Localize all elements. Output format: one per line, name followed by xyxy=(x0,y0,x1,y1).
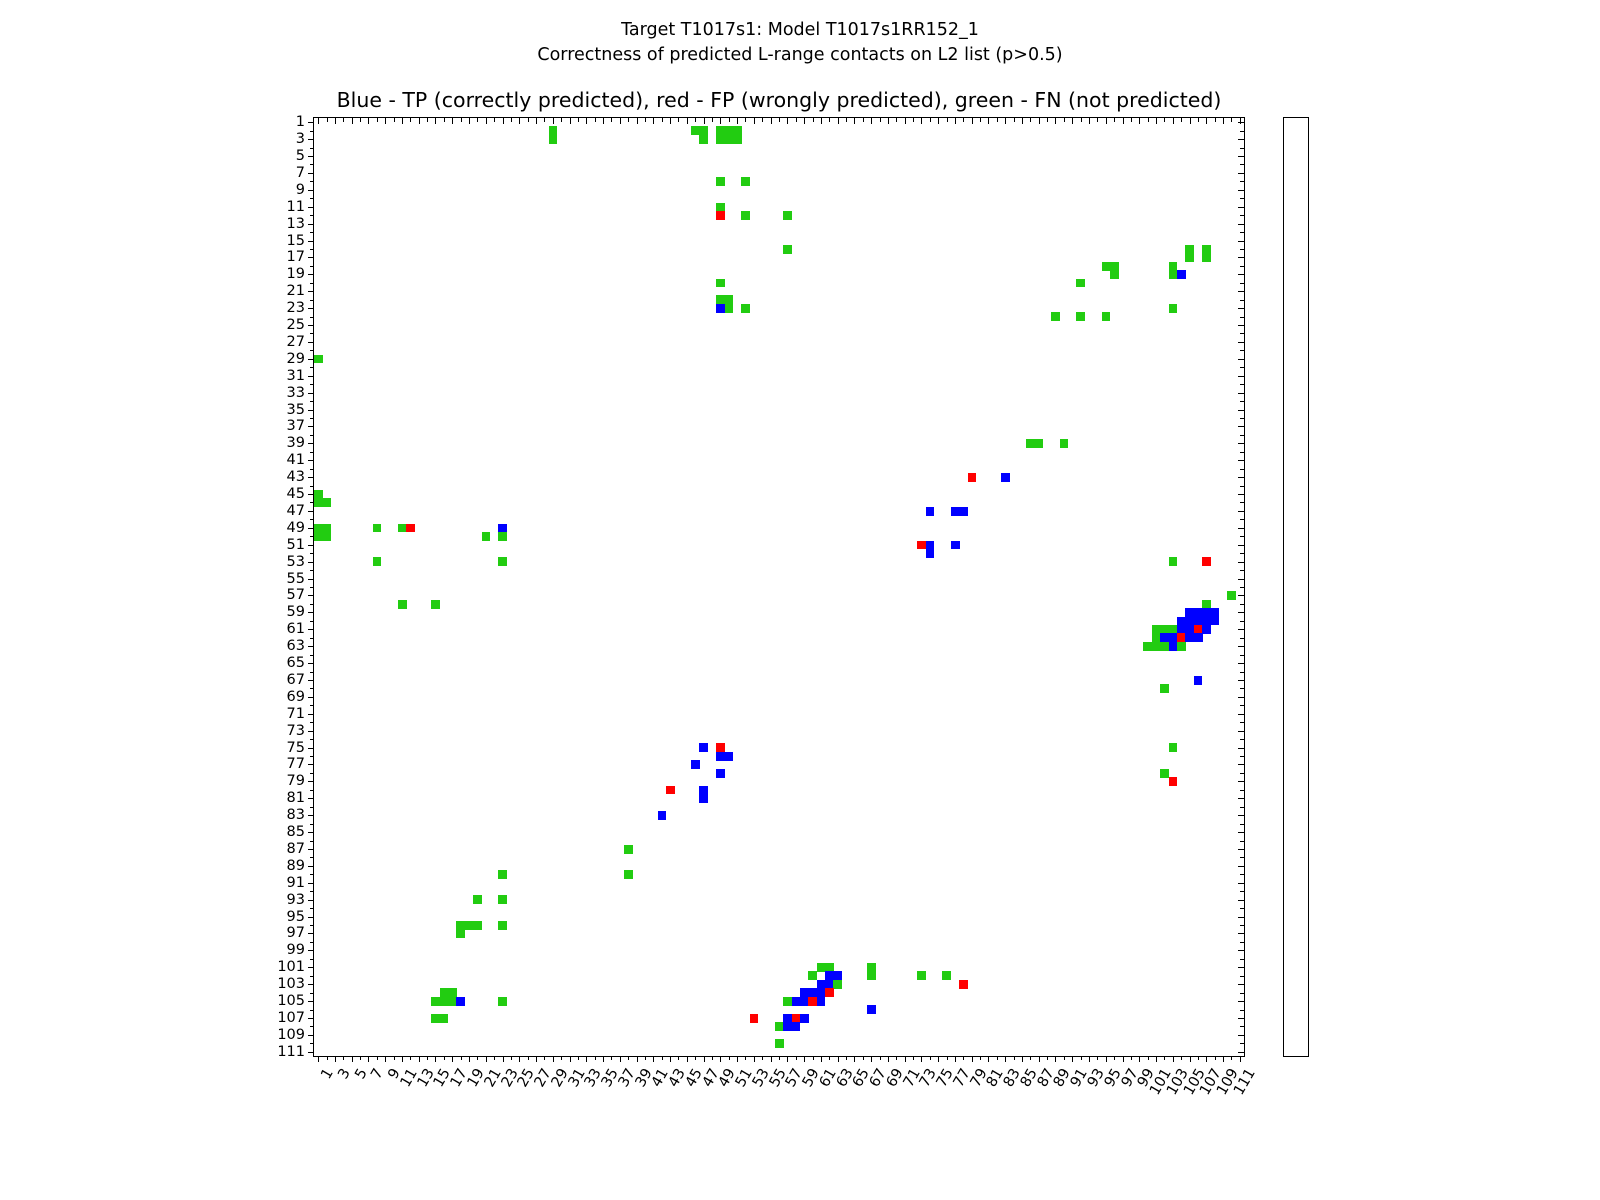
contact-cell xyxy=(1202,245,1211,262)
x-axis-tick-top xyxy=(1231,118,1232,122)
contact-cell xyxy=(1202,625,1211,634)
x-axis-tick-top xyxy=(1173,118,1174,124)
contact-cell xyxy=(716,769,725,778)
y-axis-tick-right xyxy=(1238,1052,1244,1053)
y-axis-tick xyxy=(308,426,314,427)
y-axis-tick-right xyxy=(1238,933,1244,934)
x-axis-tick xyxy=(645,1056,646,1060)
y-axis-tick xyxy=(310,418,314,419)
y-axis-label: 73 xyxy=(287,723,305,739)
contact-cell xyxy=(1160,684,1169,693)
y-axis-tick-right xyxy=(1238,477,1244,478)
x-axis-tick-top xyxy=(570,118,571,124)
x-axis-tick-top xyxy=(720,118,721,124)
y-axis-tick xyxy=(308,798,314,799)
contact-cell xyxy=(314,524,331,541)
y-axis-label: 57 xyxy=(287,587,305,603)
x-axis-tick xyxy=(1005,1056,1006,1062)
y-axis-tick xyxy=(308,122,314,123)
y-axis-label: 49 xyxy=(287,520,305,536)
y-axis-tick xyxy=(310,570,314,571)
y-axis-label: 101 xyxy=(277,959,305,975)
x-axis-tick xyxy=(921,1056,922,1062)
x-axis-tick-top xyxy=(980,118,981,122)
y-axis-tick-right xyxy=(1240,164,1244,165)
y-axis-tick xyxy=(308,342,314,343)
x-axis-tick xyxy=(930,1056,931,1060)
y-axis-tick-right xyxy=(1238,410,1244,411)
y-axis-tick-right xyxy=(1238,798,1244,799)
y-axis-tick xyxy=(310,807,314,808)
x-axis-tick xyxy=(1081,1056,1082,1060)
x-axis-tick-top xyxy=(896,118,897,122)
x-axis-tick-top xyxy=(1240,118,1241,124)
contact-cell xyxy=(456,929,465,938)
y-axis-tick-right xyxy=(1240,300,1244,301)
y-axis-tick-right xyxy=(1240,621,1244,622)
y-axis-label: 45 xyxy=(287,486,305,502)
x-axis-tick-top xyxy=(1198,118,1199,122)
x-axis-tick-top xyxy=(829,118,830,122)
x-axis-tick xyxy=(1097,1056,1098,1060)
x-axis-tick-top xyxy=(729,118,730,122)
x-axis-tick-top xyxy=(486,118,487,124)
y-axis-tick-right xyxy=(1240,418,1244,419)
y-axis-tick-right xyxy=(1238,967,1244,968)
y-axis-tick xyxy=(308,832,314,833)
y-axis-label: 7 xyxy=(296,165,305,181)
x-axis-tick-top xyxy=(1022,118,1023,124)
y-axis-label: 43 xyxy=(287,469,305,485)
x-axis-tick-top xyxy=(352,118,353,124)
y-axis-tick-right xyxy=(1240,536,1244,537)
x-axis-tick xyxy=(469,1056,470,1062)
y-axis-tick-right xyxy=(1240,908,1244,909)
x-axis-tick xyxy=(963,1056,964,1060)
x-axis-tick-top xyxy=(754,118,755,124)
y-axis-label: 11 xyxy=(287,199,305,215)
x-axis-label: 3 xyxy=(335,1066,353,1082)
x-axis-tick-top xyxy=(603,118,604,124)
x-axis-tick-top xyxy=(561,118,562,122)
y-axis-tick-right xyxy=(1240,841,1244,842)
x-axis-tick-top xyxy=(695,118,696,122)
y-axis-tick xyxy=(310,553,314,554)
y-axis-label: 111 xyxy=(277,1044,305,1060)
contact-cell xyxy=(951,541,960,550)
x-axis-tick xyxy=(1039,1056,1040,1062)
contact-cell xyxy=(431,600,440,609)
x-axis-tick-top xyxy=(1005,118,1006,124)
y-axis-label: 67 xyxy=(287,672,305,688)
contact-cell xyxy=(725,304,734,313)
y-axis-label: 103 xyxy=(277,976,305,992)
contact-cell xyxy=(1177,642,1186,651)
y-axis-tick xyxy=(308,139,314,140)
y-axis-tick-right xyxy=(1240,756,1244,757)
x-axis-tick xyxy=(1215,1056,1216,1060)
x-axis-tick xyxy=(368,1056,369,1062)
y-axis-label: 85 xyxy=(287,824,305,840)
contact-cell xyxy=(473,895,482,904)
x-axis-tick xyxy=(662,1056,663,1060)
contact-cell xyxy=(456,997,465,1006)
y-axis-label: 29 xyxy=(287,351,305,367)
y-axis-tick xyxy=(308,190,314,191)
x-axis-tick xyxy=(846,1056,847,1060)
x-axis-tick-top xyxy=(553,118,554,124)
y-axis-tick-right xyxy=(1238,731,1244,732)
y-axis-tick xyxy=(308,629,314,630)
x-axis-tick xyxy=(435,1056,436,1062)
contact-cell xyxy=(1177,270,1186,279)
y-axis-tick xyxy=(310,722,314,723)
x-axis-tick xyxy=(997,1056,998,1060)
x-axis-tick-top xyxy=(888,118,889,124)
x-axis-tick xyxy=(1231,1056,1232,1060)
y-axis-tick-right xyxy=(1238,224,1244,225)
y-axis-tick xyxy=(310,976,314,977)
contact-cell xyxy=(699,135,708,144)
x-axis-tick-top xyxy=(1215,118,1216,122)
x-axis-tick xyxy=(503,1056,504,1062)
y-axis-label: 87 xyxy=(287,841,305,857)
y-axis-label: 3 xyxy=(296,131,305,147)
y-axis-tick-right xyxy=(1240,587,1244,588)
x-axis-tick-top xyxy=(645,118,646,122)
y-axis-label: 75 xyxy=(287,740,305,756)
x-axis-tick xyxy=(762,1056,763,1060)
y-axis-tick-right xyxy=(1240,874,1244,875)
y-axis-tick xyxy=(310,857,314,858)
x-axis-tick xyxy=(628,1056,629,1060)
y-axis-tick xyxy=(308,241,314,242)
y-axis-tick xyxy=(310,333,314,334)
x-axis-tick-top xyxy=(1055,118,1056,124)
y-axis-label: 25 xyxy=(287,317,305,333)
y-axis-tick xyxy=(308,883,314,884)
y-axis-tick xyxy=(308,967,314,968)
y-axis-tick-right xyxy=(1238,612,1244,613)
x-axis-tick xyxy=(1223,1056,1224,1062)
y-axis-label: 55 xyxy=(287,571,305,587)
y-axis-tick-right xyxy=(1240,722,1244,723)
y-axis-label: 39 xyxy=(287,435,305,451)
y-axis-label: 69 xyxy=(287,689,305,705)
x-axis-tick-top xyxy=(628,118,629,122)
y-axis-label: 93 xyxy=(287,892,305,908)
y-axis-tick-right xyxy=(1238,748,1244,749)
x-axis-tick xyxy=(637,1056,638,1062)
x-axis-tick xyxy=(1181,1056,1182,1060)
y-axis-tick xyxy=(308,308,314,309)
contact-cell xyxy=(1185,245,1194,262)
y-axis-tick xyxy=(308,595,314,596)
contact-cell xyxy=(1001,473,1010,482)
x-axis-tick-top xyxy=(762,118,763,122)
y-axis-tick xyxy=(308,579,314,580)
y-axis-tick xyxy=(310,519,314,520)
x-axis-tick-top xyxy=(402,118,403,124)
y-axis-tick-right xyxy=(1240,688,1244,689)
x-axis-tick-top xyxy=(343,118,344,122)
x-axis-tick xyxy=(1089,1056,1090,1062)
contact-cell xyxy=(431,1014,448,1023)
y-axis-tick-right xyxy=(1238,359,1244,360)
x-axis-tick-top xyxy=(1097,118,1098,122)
x-axis-tick-top xyxy=(394,118,395,122)
contact-cell xyxy=(716,126,742,143)
y-axis-tick-right xyxy=(1238,849,1244,850)
y-axis-tick xyxy=(308,815,314,816)
figure-root: Target T1017s1: Model T1017s1RR152_1 Cor… xyxy=(0,0,1600,1200)
x-axis-tick-top xyxy=(1114,118,1115,122)
y-axis-label: 21 xyxy=(287,283,305,299)
x-axis-tick-top xyxy=(796,118,797,122)
x-axis-tick-top xyxy=(1064,118,1065,122)
x-axis-tick xyxy=(570,1056,571,1062)
x-axis-tick-top xyxy=(1039,118,1040,124)
y-axis-tick-right xyxy=(1238,460,1244,461)
y-axis-tick-right xyxy=(1238,426,1244,427)
x-axis-tick-top xyxy=(368,118,369,124)
y-axis-tick-right xyxy=(1240,502,1244,503)
y-axis-tick-right xyxy=(1238,443,1244,444)
y-axis-tick-right xyxy=(1240,401,1244,402)
y-axis-tick xyxy=(308,731,314,732)
x-axis-tick xyxy=(410,1056,411,1060)
y-axis-label: 71 xyxy=(287,706,305,722)
contact-cell xyxy=(498,532,507,541)
contact-map-plot[interactable]: 1133557799111113131515171719192121232325… xyxy=(313,117,1245,1057)
contact-cell xyxy=(741,211,750,220)
y-axis-tick-right xyxy=(1238,900,1244,901)
x-axis-tick xyxy=(444,1056,445,1060)
contact-cells-layer xyxy=(314,118,1244,1056)
x-axis-tick xyxy=(1190,1056,1191,1062)
y-axis-label: 83 xyxy=(287,807,305,823)
y-axis-tick-right xyxy=(1238,528,1244,529)
x-axis-tick xyxy=(318,1056,319,1062)
x-axis-tick-top xyxy=(503,118,504,124)
contact-cell xyxy=(699,743,708,752)
y-axis-tick xyxy=(310,1010,314,1011)
y-axis-tick-right xyxy=(1240,333,1244,334)
contact-cell xyxy=(398,600,407,609)
x-axis-tick-top xyxy=(444,118,445,122)
contact-cell xyxy=(867,963,876,980)
y-axis-tick xyxy=(308,1052,314,1053)
y-axis-label: 53 xyxy=(287,554,305,570)
x-axis-tick-top xyxy=(327,118,328,122)
x-axis-tick xyxy=(955,1056,956,1062)
x-axis-tick-top xyxy=(997,118,998,122)
y-axis-tick xyxy=(308,663,314,664)
y-axis-tick xyxy=(310,841,314,842)
contact-cell xyxy=(1169,304,1178,313)
x-axis-tick-top xyxy=(854,118,855,124)
y-axis-tick xyxy=(308,325,314,326)
y-axis-label: 91 xyxy=(287,875,305,891)
y-axis-label: 9 xyxy=(296,182,305,198)
x-axis-tick xyxy=(352,1056,353,1062)
y-axis-tick xyxy=(308,748,314,749)
y-axis-tick-right xyxy=(1240,705,1244,706)
contact-cell xyxy=(1060,439,1069,448)
contact-cell xyxy=(867,1005,876,1014)
y-axis-tick xyxy=(308,849,314,850)
y-axis-tick-right xyxy=(1238,866,1244,867)
x-axis-tick xyxy=(854,1056,855,1062)
x-axis-tick-top xyxy=(377,118,378,122)
y-axis-label: 81 xyxy=(287,790,305,806)
contact-cell xyxy=(750,1014,759,1023)
y-axis-tick xyxy=(308,173,314,174)
y-axis-tick xyxy=(310,604,314,605)
y-axis-tick-right xyxy=(1240,198,1244,199)
x-axis-tick xyxy=(1022,1056,1023,1062)
y-axis-tick-right xyxy=(1240,283,1244,284)
contact-cell xyxy=(373,557,382,566)
contact-cell xyxy=(1169,777,1178,786)
y-axis-tick-right xyxy=(1240,181,1244,182)
y-axis-tick-right xyxy=(1240,976,1244,977)
x-axis-tick xyxy=(519,1056,520,1062)
x-axis-tick xyxy=(603,1056,604,1062)
x-axis-tick xyxy=(419,1056,420,1062)
x-axis-tick xyxy=(813,1056,814,1060)
x-axis-tick xyxy=(1114,1056,1115,1060)
x-axis-tick xyxy=(653,1056,654,1062)
x-axis-tick-top xyxy=(435,118,436,124)
x-axis-tick-top xyxy=(427,118,428,122)
y-axis-tick-right xyxy=(1240,857,1244,858)
x-axis-tick-top xyxy=(880,118,881,122)
contact-cell xyxy=(691,760,700,769)
x-axis-tick xyxy=(343,1056,344,1060)
x-axis-tick-top xyxy=(1206,118,1207,124)
y-axis-tick xyxy=(308,1035,314,1036)
y-axis-tick-right xyxy=(1238,511,1244,512)
y-axis-tick xyxy=(308,224,314,225)
x-axis-tick xyxy=(787,1056,788,1062)
x-axis-tick xyxy=(754,1056,755,1062)
x-axis-tick xyxy=(980,1056,981,1060)
y-axis-tick xyxy=(308,511,314,512)
y-axis-tick-right xyxy=(1238,883,1244,884)
y-axis-tick xyxy=(308,410,314,411)
contact-cell xyxy=(783,211,792,220)
y-axis-tick-right xyxy=(1240,604,1244,605)
x-axis-tick xyxy=(427,1056,428,1060)
y-axis-tick-right xyxy=(1240,1043,1244,1044)
y-axis-tick xyxy=(310,1043,314,1044)
y-axis-tick-right xyxy=(1238,562,1244,563)
y-axis-tick-right xyxy=(1238,325,1244,326)
contact-cell xyxy=(314,498,331,507)
x-axis-tick xyxy=(704,1056,705,1062)
contact-cell xyxy=(658,811,667,820)
x-axis-tick xyxy=(494,1056,495,1060)
x-axis-tick-top xyxy=(821,118,822,124)
y-axis-tick xyxy=(310,587,314,588)
y-axis-tick xyxy=(308,950,314,951)
contact-cell xyxy=(1026,439,1043,448)
contact-cell xyxy=(1102,312,1111,321)
contact-cell xyxy=(373,524,382,533)
y-axis-tick-right xyxy=(1240,131,1244,132)
x-axis-tick-top xyxy=(771,118,772,124)
y-axis-tick-right xyxy=(1240,993,1244,994)
x-axis-tick xyxy=(796,1056,797,1060)
x-axis-tick-top xyxy=(519,118,520,124)
y-axis-tick-right xyxy=(1238,579,1244,580)
y-axis-tick xyxy=(308,1018,314,1019)
y-axis-label: 105 xyxy=(277,993,305,1009)
x-axis-tick xyxy=(871,1056,872,1062)
y-axis-label: 19 xyxy=(287,266,305,282)
y-axis-tick xyxy=(310,942,314,943)
y-axis-tick xyxy=(308,477,314,478)
y-axis-label: 17 xyxy=(287,249,305,265)
x-axis-tick-top xyxy=(863,118,864,122)
contact-cell xyxy=(775,1039,784,1048)
y-axis-tick-right xyxy=(1238,1018,1244,1019)
y-axis-tick xyxy=(310,688,314,689)
contact-cell xyxy=(817,997,826,1006)
y-axis-tick xyxy=(310,705,314,706)
contact-cell xyxy=(716,211,725,220)
x-axis-tick-top xyxy=(670,118,671,124)
y-axis-tick-right xyxy=(1240,317,1244,318)
y-axis-label: 77 xyxy=(287,756,305,772)
y-axis-tick xyxy=(310,469,314,470)
y-axis-tick-right xyxy=(1238,984,1244,985)
colorbar-gradient xyxy=(1283,117,1309,1057)
figure-subtitle: Blue - TP (correctly predicted), red - F… xyxy=(313,88,1245,112)
x-axis-tick xyxy=(561,1056,562,1060)
y-axis-tick xyxy=(310,249,314,250)
y-axis-tick xyxy=(308,680,314,681)
y-axis-label: 41 xyxy=(287,452,305,468)
y-axis-tick-right xyxy=(1238,595,1244,596)
y-axis-tick-right xyxy=(1238,291,1244,292)
y-axis-tick xyxy=(308,545,314,546)
x-axis-tick xyxy=(1240,1056,1241,1062)
contact-cell xyxy=(666,786,675,795)
y-axis-tick-right xyxy=(1240,486,1244,487)
x-axis-tick xyxy=(1173,1056,1174,1062)
y-axis-tick-right xyxy=(1238,917,1244,918)
y-axis-tick xyxy=(308,562,314,563)
contact-cell xyxy=(1169,743,1178,752)
x-axis-tick-top xyxy=(938,118,939,124)
y-axis-tick xyxy=(308,984,314,985)
y-axis-tick xyxy=(310,621,314,622)
y-axis-tick xyxy=(308,1001,314,1002)
y-axis-tick xyxy=(310,164,314,165)
colorbar xyxy=(1283,117,1309,1057)
x-axis-tick-top xyxy=(385,118,386,124)
y-axis-tick xyxy=(310,300,314,301)
x-axis-tick xyxy=(486,1056,487,1062)
y-axis-label: 13 xyxy=(287,216,305,232)
y-axis-tick-right xyxy=(1238,342,1244,343)
y-axis-tick-right xyxy=(1238,646,1244,647)
x-axis-tick xyxy=(988,1056,989,1062)
x-axis-tick-top xyxy=(813,118,814,122)
y-axis-tick xyxy=(308,257,314,258)
